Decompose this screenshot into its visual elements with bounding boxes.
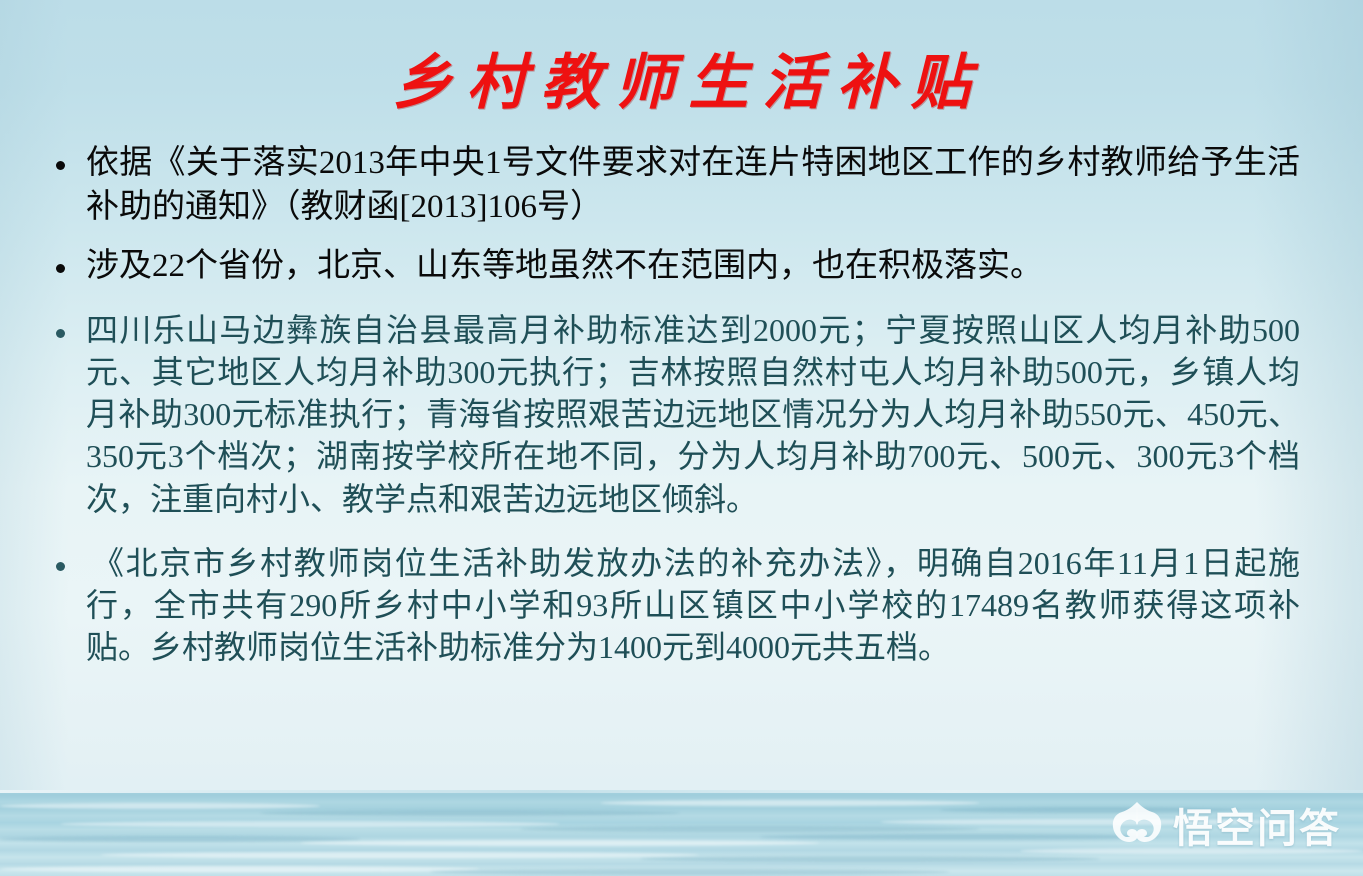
bullet-text-1: 依据《关于落实2013年中央1号文件要求对在连片特困地区工作的乡村教师给予生活补… [86, 142, 1300, 229]
slide-body: 依据《关于落实2013年中央1号文件要求对在连片特困地区工作的乡村教师给予生活补… [56, 142, 1300, 669]
bullet-marker-4 [56, 542, 86, 584]
watermark: 悟空问答 [1111, 796, 1341, 854]
bullet-item-3: 四川乐山马边彝族自治县最高月补助标准达到2000元；宁夏按照山区人均月补助500… [56, 309, 1300, 520]
wukong-cloud-logo-icon [1111, 801, 1163, 850]
bullet-text-4: 《北京市乡村教师岗位生活补助发放办法的补充办法》，明确自2016年11月1日起施… [86, 542, 1300, 669]
bullet-item-2: 涉及22个省份，北京、山东等地虽然不在范围内，也在积极落实。 [56, 245, 1300, 289]
bullet-text-3: 四川乐山马边彝族自治县最高月补助标准达到2000元；宁夏按照山区人均月补助500… [86, 309, 1300, 520]
presentation-slide: 乡村教师生活补贴 依据《关于落实2013年中央1号文件要求对在连片特困地区工作的… [0, 0, 1363, 876]
horizon-line [0, 790, 1363, 793]
bullet-marker-2 [56, 245, 86, 289]
bullet-text-2: 涉及22个省份，北京、山东等地虽然不在范围内，也在积极落实。 [86, 245, 1300, 289]
slide-title: 乡村教师生活补贴 [0, 34, 1363, 121]
bullet-marker-1 [56, 142, 86, 186]
watermark-label: 悟空问答 [1173, 796, 1341, 854]
bullet-marker-3 [56, 309, 86, 351]
bullet-item-1: 依据《关于落实2013年中央1号文件要求对在连片特困地区工作的乡村教师给予生活补… [56, 142, 1300, 229]
bullet-item-4: 《北京市乡村教师岗位生活补助发放办法的补充办法》，明确自2016年11月1日起施… [56, 542, 1300, 669]
